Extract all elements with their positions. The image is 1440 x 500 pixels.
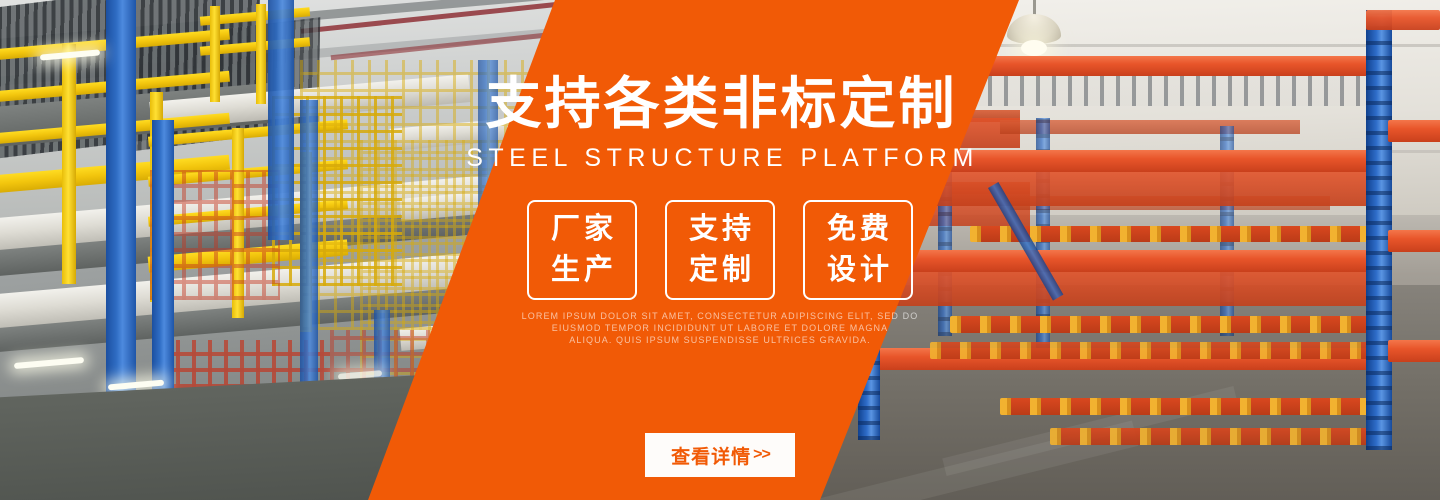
feature-badge-line1: 免费 xyxy=(823,209,893,250)
view-details-label: 查看详情 xyxy=(670,442,751,469)
feature-badge-manufacturer[interactable]: 厂家 生产 xyxy=(527,200,637,300)
page-subtitle: STEEL STRUCTURE PLATFORM xyxy=(0,144,1440,173)
description-line-1: LOREM IPSUM DOLOR SIT AMET, CONSECTETUR … xyxy=(0,310,1440,322)
feature-badge-free-design[interactable]: 免费 设计 xyxy=(803,200,913,300)
feature-badge-line1: 厂家 xyxy=(547,209,617,250)
feature-badge-line2: 生产 xyxy=(547,250,617,291)
feature-badge-customization[interactable]: 支持 定制 xyxy=(665,200,775,300)
feature-badge-line2: 定制 xyxy=(685,250,755,291)
promo-banner: 支持各类非标定制 STEEL STRUCTURE PLATFORM 厂家 生产 … xyxy=(0,0,1440,500)
cta-container: 查看详情 >> xyxy=(0,433,1440,477)
feature-badge-line2: 设计 xyxy=(823,250,893,291)
description-text: LOREM IPSUM DOLOR SIT AMET, CONSECTETUR … xyxy=(0,310,1440,347)
feature-badge-line1: 支持 xyxy=(685,209,755,250)
chevron-right-icon: >> xyxy=(752,446,770,464)
description-line-2: EIUSMOD TEMPOR INCIDIDUNT UT LABORE ET D… xyxy=(0,322,1440,334)
view-details-button[interactable]: 查看详情 >> xyxy=(645,433,795,477)
banner-content: 支持各类非标定制 STEEL STRUCTURE PLATFORM 厂家 生产 … xyxy=(0,0,1440,500)
feature-badge-list: 厂家 生产 支持 定制 免费 设计 xyxy=(0,200,1440,300)
description-line-3: ALIQUA. QUIS IPSUM SUSPENDISSE ULTRICES … xyxy=(0,334,1440,346)
page-title: 支持各类非标定制 xyxy=(0,70,1440,137)
